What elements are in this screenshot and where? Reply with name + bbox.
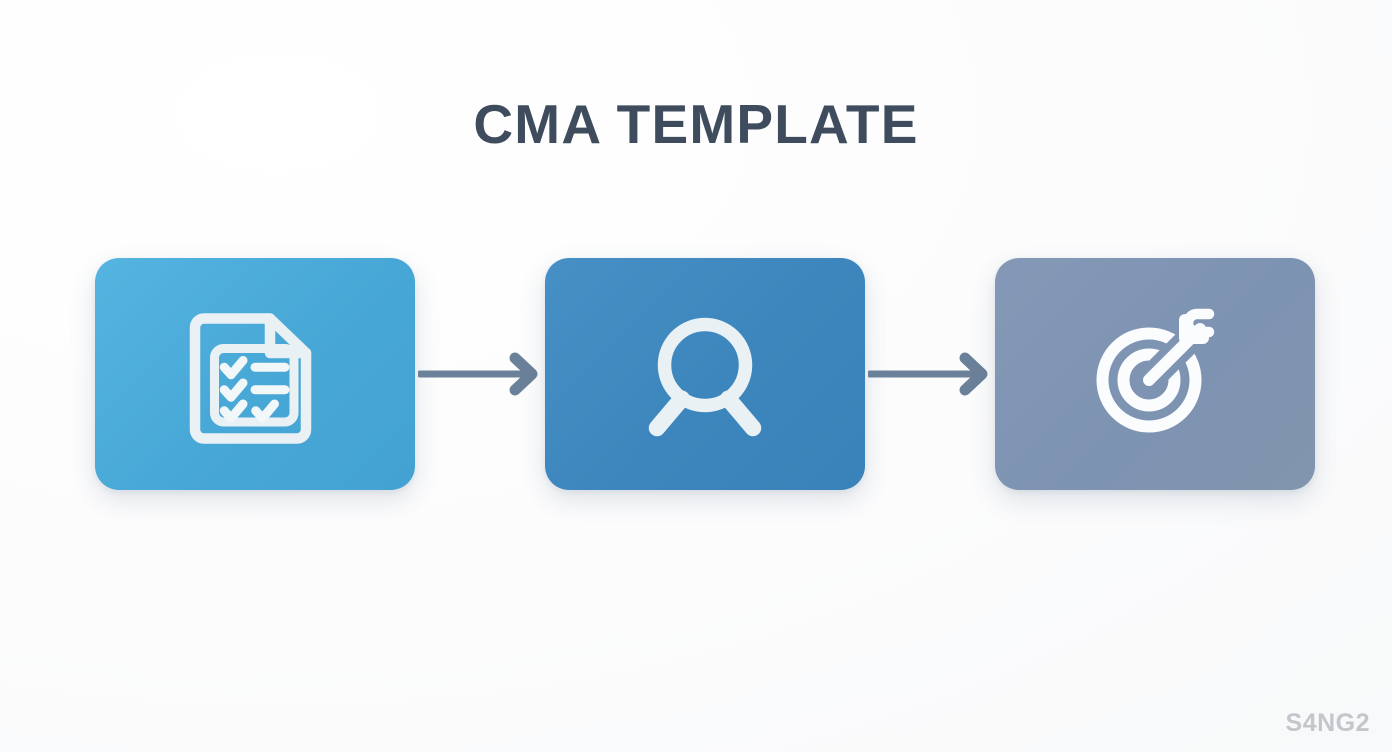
magnifying-glass-icon — [630, 299, 780, 449]
watermark-label: S4NG2 — [1286, 709, 1370, 738]
target-arrow-icon — [1080, 299, 1230, 449]
arrow-right-icon-2 — [868, 351, 993, 397]
slide-canvas: CMA TEMPLATE — [0, 0, 1392, 752]
document-checklist-icon — [180, 299, 330, 449]
page-title: CMA TEMPLATE — [0, 92, 1392, 156]
arrow-right-icon-1 — [418, 351, 543, 397]
step-card-search[interactable] — [545, 258, 865, 490]
step-card-target[interactable] — [995, 258, 1315, 490]
process-flow — [95, 258, 1315, 490]
step-card-document[interactable] — [95, 258, 415, 490]
